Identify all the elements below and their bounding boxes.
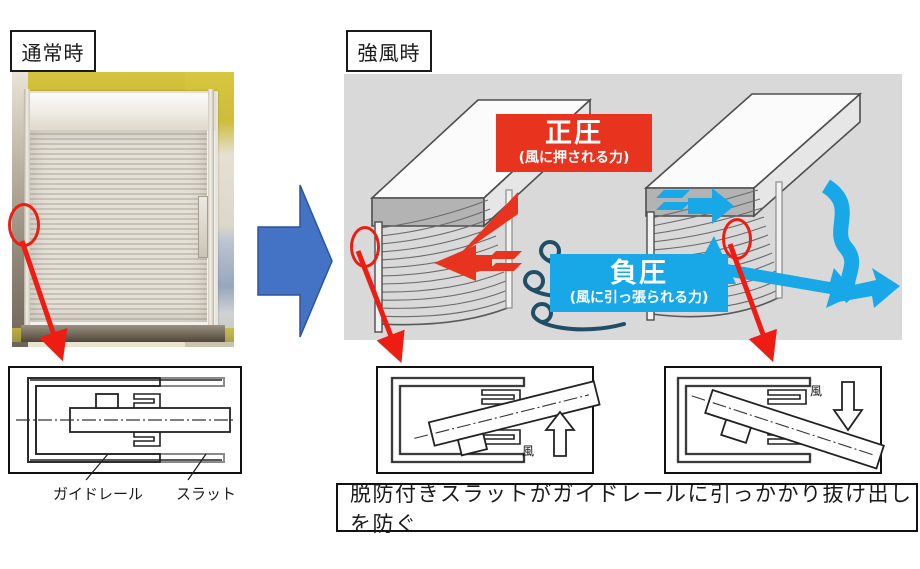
photo-shutter-header-box	[25, 91, 215, 131]
photo-guide-rail-right	[208, 89, 214, 331]
section-title-normal-label: 通常時	[22, 37, 85, 66]
cross-section-negative-pressure: 風	[664, 366, 882, 474]
strongwind-illustration-panel: 正圧 (風に押される力)	[344, 74, 902, 340]
cross-section-negative-drawing	[666, 368, 880, 472]
section-title-strongwind: 強風時	[346, 30, 432, 72]
callout-negative-title: 負圧	[610, 260, 668, 288]
callout-positive-title: 正圧	[545, 120, 603, 148]
cross-section-positive-pressure: 風	[376, 366, 594, 474]
label-slat: スラット	[176, 483, 236, 504]
photo-control-box	[198, 196, 209, 259]
callout-positive-subtitle: (風に押される力)	[519, 151, 630, 166]
section-title-normal: 通常時	[10, 30, 96, 72]
positive-callout-tail	[456, 192, 518, 258]
section-title-strongwind-label: 強風時	[358, 37, 421, 66]
wind-label-down: 風	[810, 382, 822, 399]
callout-negative-subtitle: (風に引っ張られる力)	[570, 291, 709, 306]
callout-negative-pressure: 負圧 (風に引っ張られる力)	[550, 254, 728, 312]
pointer-arrow-negative	[724, 238, 794, 364]
wind-label-up: 風	[522, 442, 534, 459]
summary-caption-text: 脱防付きスラットがガイドレールに引っかかり抜け出しを防ぐ	[350, 478, 916, 538]
label-guide-rail: ガイドレール	[53, 483, 143, 504]
cross-section-positive-drawing	[378, 368, 592, 472]
pointer-arrow-normal	[10, 235, 100, 365]
transition-arrow-icon	[256, 183, 334, 339]
summary-caption: 脱防付きスラットがガイドレールに引っかかり抜け出しを防ぐ	[336, 483, 918, 532]
part-leader-lines-normal	[40, 452, 250, 482]
pointer-arrow-positive	[352, 245, 422, 365]
